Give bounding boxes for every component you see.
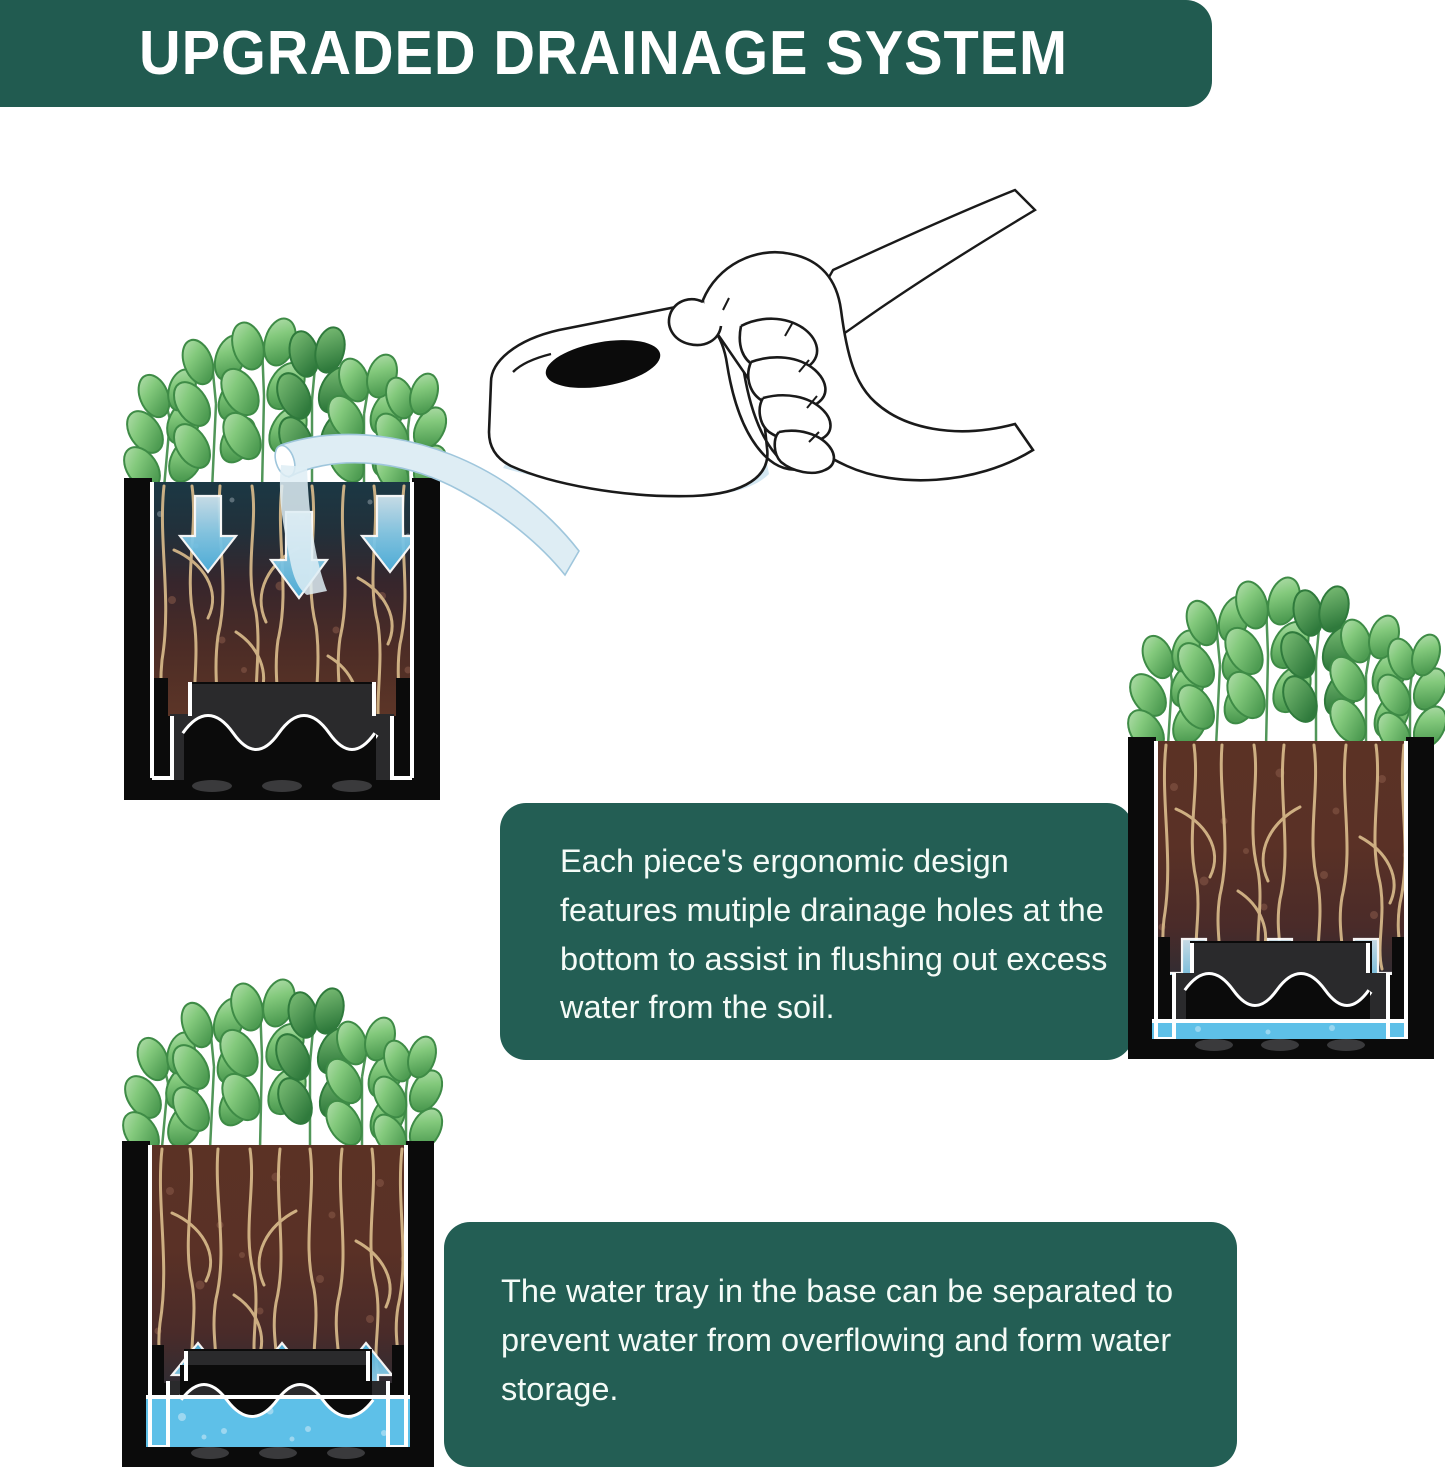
callout-tray: The water tray in the base can be separa… <box>444 1222 1237 1467</box>
planter-right <box>1118 555 1443 1060</box>
callout-tray-text: The water tray in the base can be separa… <box>501 1267 1211 1413</box>
planter-bottom-left <box>112 955 444 1467</box>
callout-drainage-text: Each piece's ergonomic design features m… <box>560 837 1108 1032</box>
planter-right-graphic <box>1118 555 1443 1060</box>
water-stream <box>265 415 585 595</box>
plant-foliage-right <box>1121 574 1445 759</box>
header-banner: UPGRADED DRAINAGE SYSTEM <box>0 0 1212 107</box>
page-title: UPGRADED DRAINAGE SYSTEM <box>114 23 1067 85</box>
callout-drainage: Each piece's ergonomic design features m… <box>500 803 1133 1060</box>
planter-bottom-left-graphic <box>112 955 444 1467</box>
tray-water-right <box>1152 1021 1406 1039</box>
plant-foliage-bottom-left <box>116 976 449 1161</box>
